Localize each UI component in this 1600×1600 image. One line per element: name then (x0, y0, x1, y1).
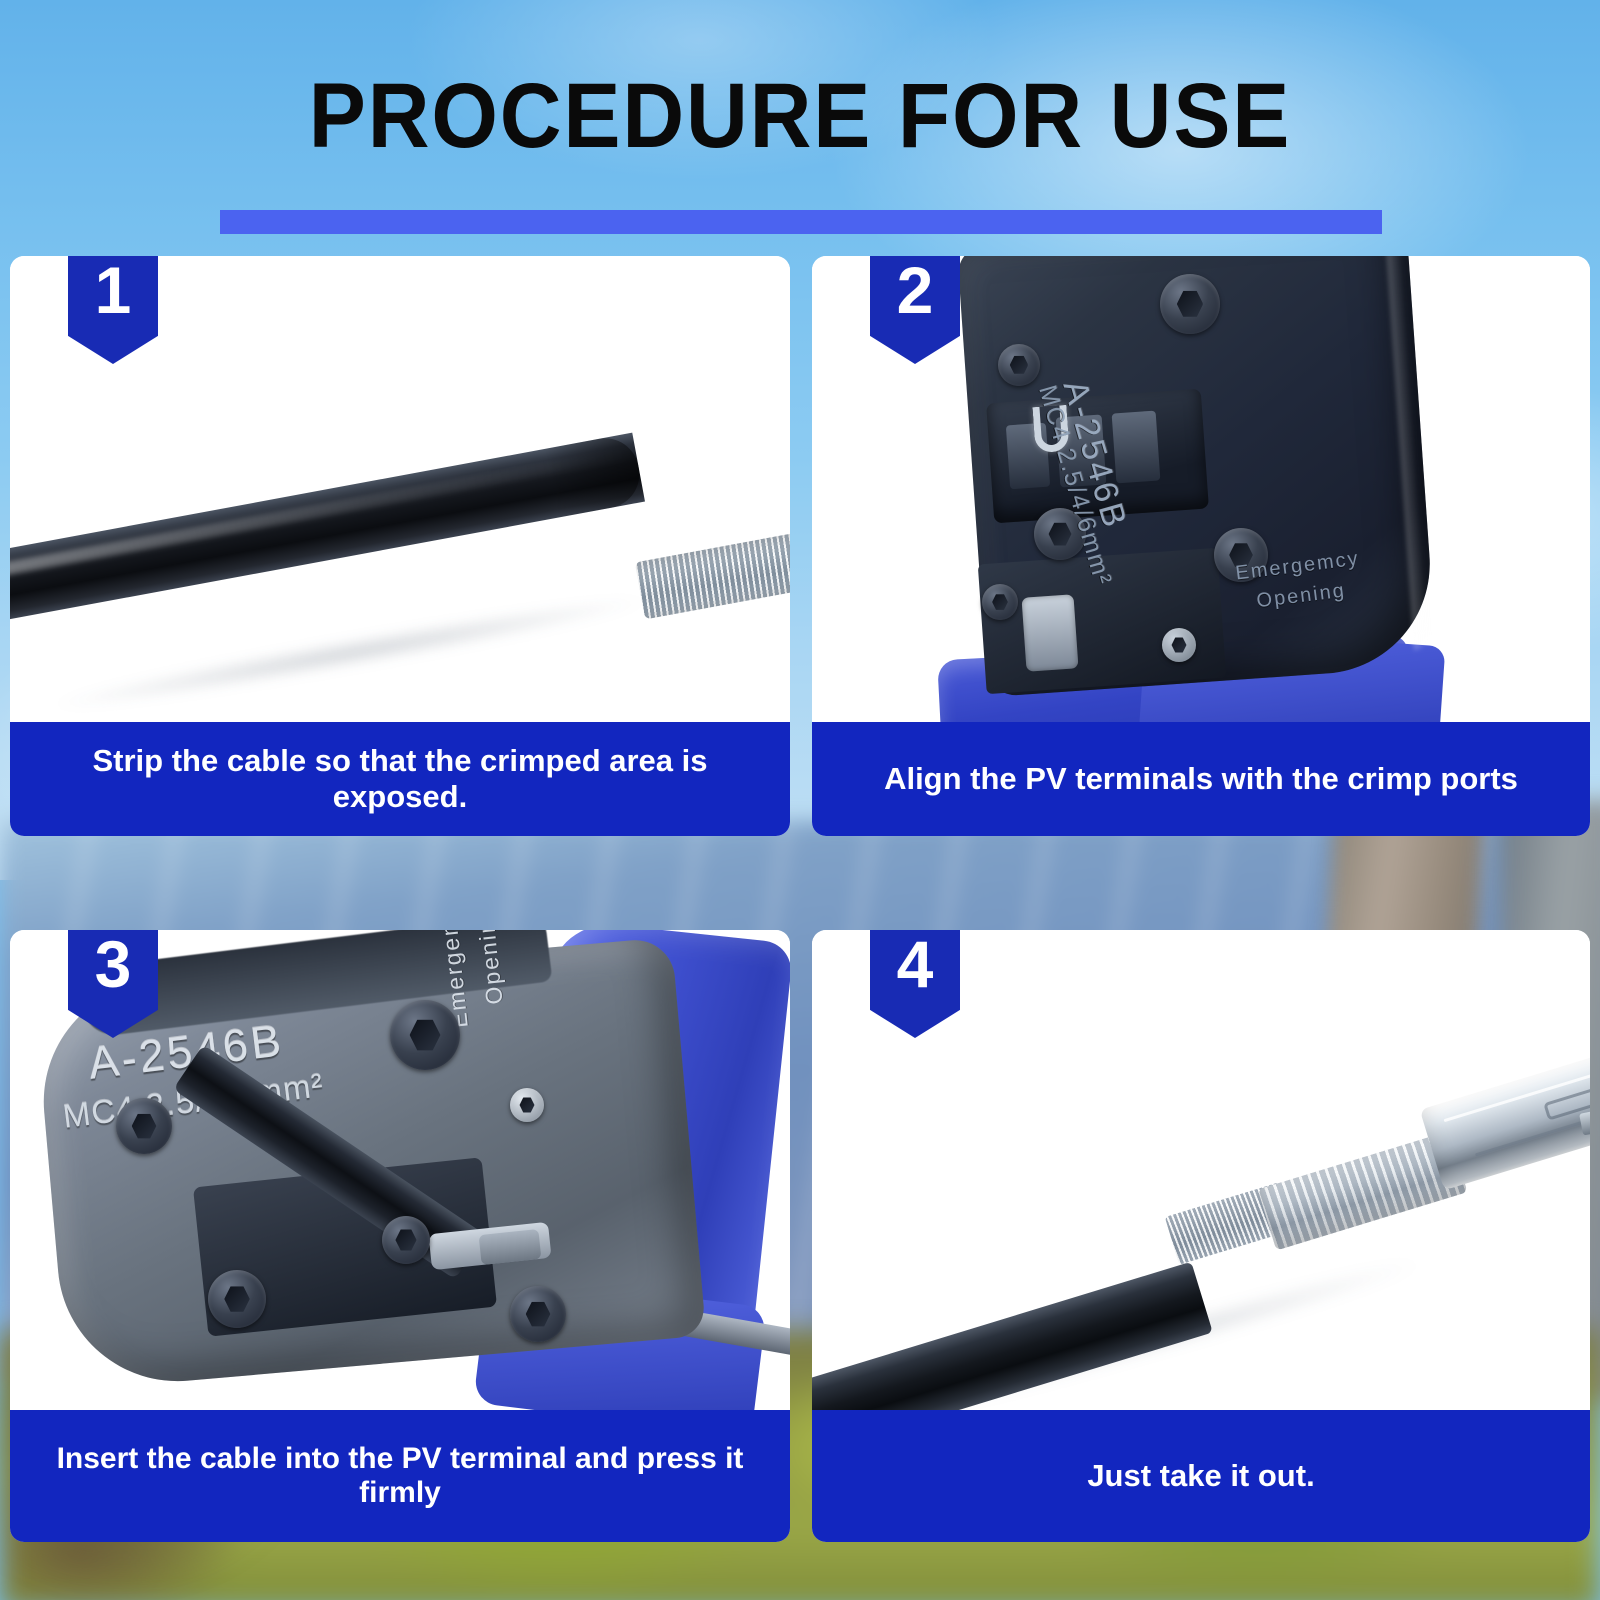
step-card-3: A-2546B MC4 2.5/4/6mm² Emergemcy Opening… (10, 930, 790, 1542)
step-caption-1: Strip the cable so that the crimped area… (10, 722, 790, 836)
page-title: PROCEDURE FOR USE (56, 60, 1544, 172)
cable-highlight (10, 445, 637, 582)
body-edge-highlight (1385, 256, 1430, 650)
cable-shadow (52, 588, 647, 718)
step-number-2: 2 (897, 256, 934, 326)
hex-screw-upper-left (998, 344, 1040, 386)
hex-screw-left (116, 1098, 172, 1154)
hex-screw-bottom-right (510, 1286, 566, 1342)
flat-screw-emergency (510, 1088, 544, 1122)
emergency-release-slot (1021, 594, 1078, 671)
hex-screw-top (390, 1000, 460, 1070)
black-cable (10, 433, 645, 626)
step-caption-3: Insert the cable into the PV terminal an… (10, 1410, 790, 1542)
step-number-3: 3 (95, 930, 132, 1000)
page-header: PROCEDURE FOR USE (0, 60, 1600, 190)
hex-screw-lower-left (982, 584, 1018, 620)
conductor-tip (787, 531, 790, 587)
stripped-conductor (635, 528, 790, 620)
emergency-release-slot-inner (479, 1229, 542, 1265)
black-cable (812, 1262, 1213, 1410)
step-number-4: 4 (897, 930, 934, 1000)
hex-screw-center (382, 1216, 430, 1264)
step-card-4: 4 Just take it out. (812, 930, 1590, 1542)
step-number-1: 1 (95, 256, 132, 326)
hex-screw-top (1160, 274, 1220, 334)
title-highlight-bar (220, 210, 1382, 234)
pin-locking-tab (1579, 1108, 1590, 1135)
step-caption-4: Just take it out. (812, 1410, 1590, 1542)
step-caption-2: Align the PV terminals with the crimp po… (812, 722, 1590, 836)
mc4-pin-terminal (1420, 999, 1590, 1190)
step-card-2: A-2546B MC4 2.5/4/6mm² Emergemcy Opening… (812, 256, 1590, 836)
flat-screw-emergency (1162, 628, 1196, 662)
step-card-1: 1 Strip the cable so that the crimped ar… (10, 256, 790, 836)
hex-screw-bottom-left (208, 1270, 266, 1328)
